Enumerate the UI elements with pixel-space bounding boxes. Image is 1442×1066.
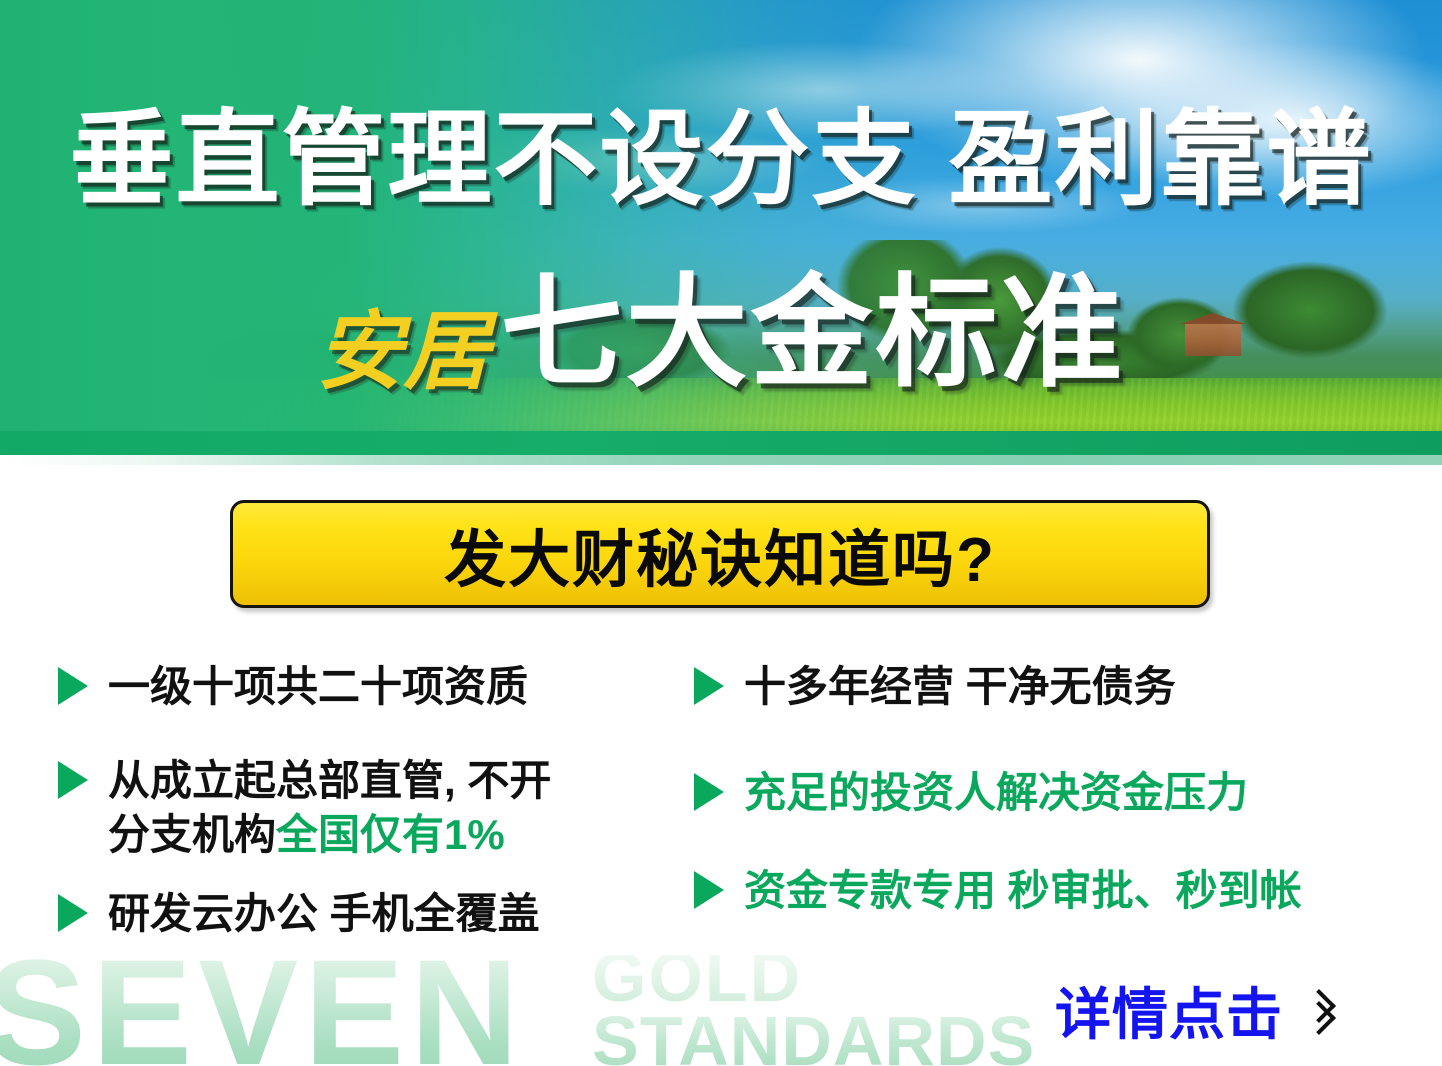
- list-item: 从成立起总部直管, 不开 分支机构全国仅有1%: [58, 754, 688, 862]
- feature-label: 十多年经营 干净无债务: [744, 660, 1176, 714]
- headline-yellow-banner[interactable]: 发大财秘诀知道吗?: [230, 500, 1210, 608]
- list-item: 研发云办公 手机全覆盖: [58, 887, 688, 941]
- feature-highlight: 全国仅有1%: [276, 811, 505, 858]
- feature-column-left: 一级十项共二十项资质 从成立起总部直管, 不开 分支机构全国仅有1% 研发云办公…: [58, 660, 688, 969]
- list-item: 资金专款专用 秒审批、秒到帐: [694, 864, 1414, 918]
- feature-column-right: 十多年经营 干净无债务 充足的投资人解决资金压力 资金专款专用 秒审批、秒到帐: [694, 660, 1414, 945]
- details-cta-label: 详情点击: [1055, 970, 1283, 1051]
- watermark-standards: STANDARDS: [592, 1009, 1035, 1066]
- triangle-bullet-icon: [694, 667, 724, 705]
- list-item: 一级十项共二十项资质: [58, 660, 688, 714]
- feature-label: 研发云办公 手机全覆盖: [108, 887, 540, 941]
- list-item: 十多年经营 干净无债务: [694, 660, 1414, 714]
- feature-label: 充足的投资人解决资金压力: [744, 766, 1248, 820]
- yellow-banner-label: 发大财秘诀知道吗?: [444, 509, 996, 599]
- triangle-bullet-icon: [58, 894, 88, 932]
- feature-list: 一级十项共二十项资质 从成立起总部直管, 不开 分支机构全国仅有1% 研发云办公…: [0, 660, 1442, 990]
- hero-subheadline-row: 安居七大金标准: [0, 272, 1442, 395]
- feature-line-1: 从成立起总部直管, 不开: [108, 757, 551, 804]
- triangle-bullet-icon: [58, 761, 88, 799]
- details-cta-button[interactable]: 详情点击: [1055, 970, 1331, 1051]
- feature-label: 一级十项共二十项资质: [108, 660, 528, 714]
- hero-headline: 垂直管理不设分支 盈利靠谱: [0, 108, 1442, 212]
- feature-label-multiline: 从成立起总部直管, 不开 分支机构全国仅有1%: [108, 754, 551, 862]
- chevron-right-icon: [1305, 988, 1331, 1034]
- hero-banner: 垂直管理不设分支 盈利靠谱 安居七大金标准: [0, 0, 1442, 455]
- triangle-bullet-icon: [694, 773, 724, 811]
- hero-subheadline: 七大金标准: [501, 272, 1126, 394]
- triangle-bullet-icon: [58, 667, 88, 705]
- hero-bottom-green-bar: [0, 431, 1442, 455]
- feature-line-2: 分支机构: [108, 811, 276, 858]
- feature-label: 资金专款专用 秒审批、秒到帐: [744, 864, 1302, 918]
- list-item: 充足的投资人解决资金压力: [694, 766, 1414, 820]
- triangle-bullet-icon: [694, 871, 724, 909]
- hero-brand-name: 安居: [317, 309, 491, 395]
- hero-bottom-fade-sliver: [0, 455, 1442, 465]
